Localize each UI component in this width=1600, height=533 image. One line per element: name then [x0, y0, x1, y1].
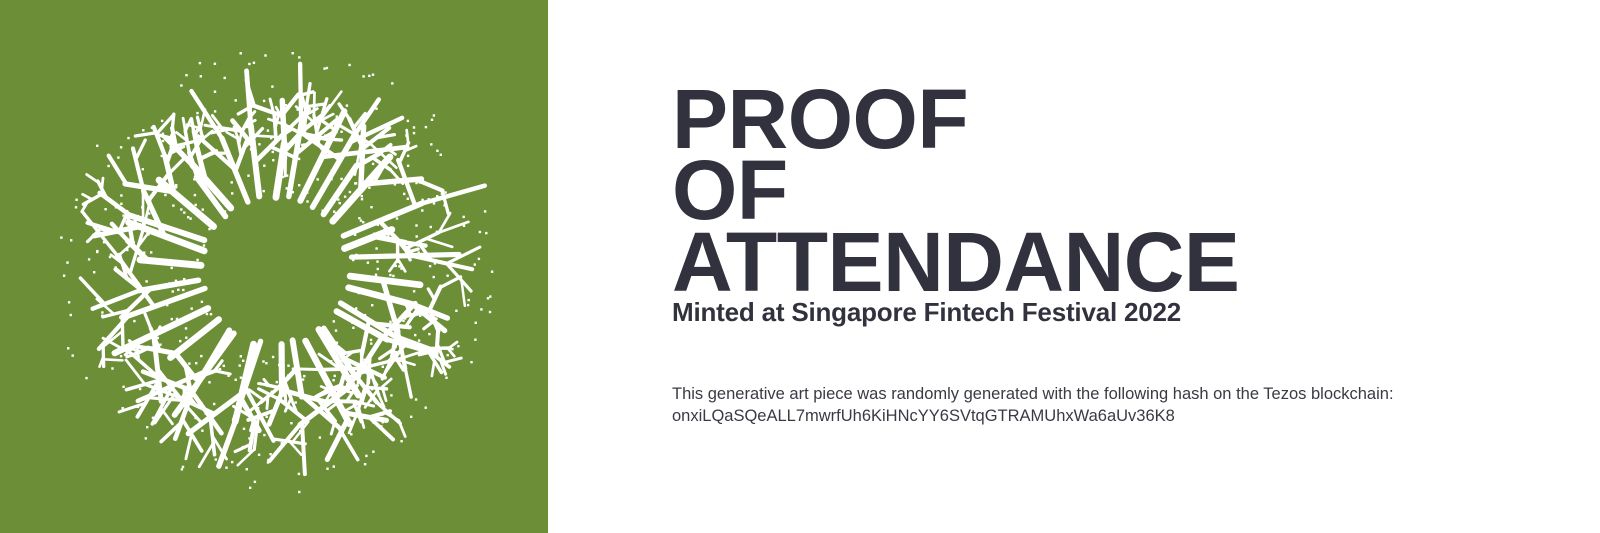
title-line-attendance: ATTENDANCE	[672, 227, 1239, 298]
page-title: PROOF OF ATTENDANCE	[672, 84, 1239, 298]
description-text: This generative art piece was randomly g…	[672, 383, 1532, 405]
information-panel: PROOF OF ATTENDANCE Minted at Singapore …	[548, 0, 1600, 533]
artwork-panel	[0, 0, 548, 533]
description-block: This generative art piece was randomly g…	[672, 383, 1532, 427]
generative-art-canvas	[0, 0, 548, 533]
proof-of-attendance-certificate: PROOF OF ATTENDANCE Minted at Singapore …	[0, 0, 1600, 533]
transaction-hash: onxiLQaSQeALL7mwrfUh6KiHNcYY6SVtqGTRAMUh…	[672, 405, 1532, 427]
event-subtitle: Minted at Singapore Fintech Festival 202…	[672, 297, 1181, 328]
